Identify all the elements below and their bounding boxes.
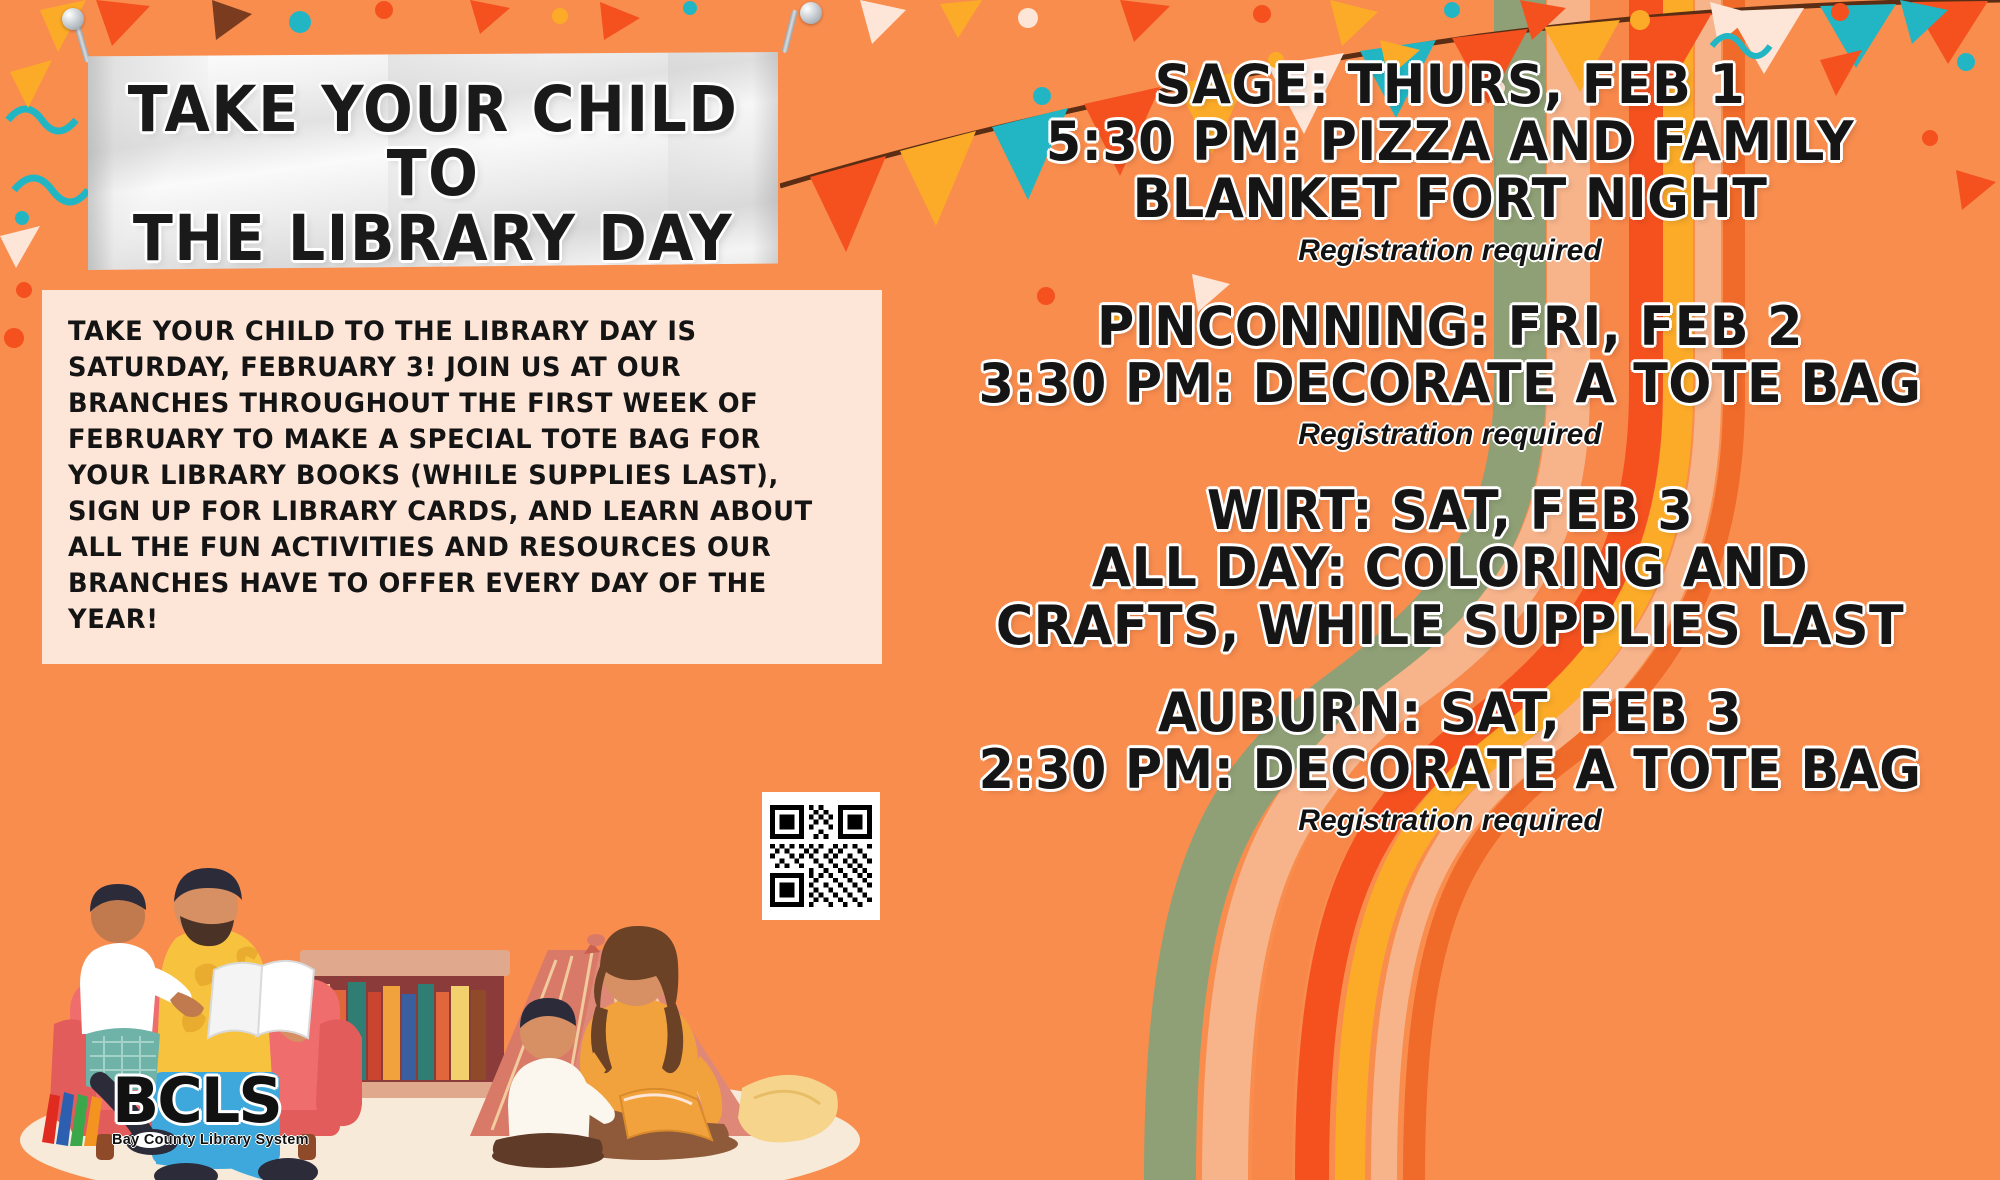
events-list: SAGE: THURS, FEB 1 5:30 PM: PIZZA AND FA…: [900, 56, 2000, 868]
event-line-2: 5:30 PM: PIZZA AND FAMILY: [933, 113, 1967, 170]
description-text: TAKE YOUR CHILD TO THE LIBRARY DAY IS SA…: [68, 314, 832, 638]
event-line-3: BLANKET FORT NIGHT: [933, 170, 1967, 227]
logo-wordmark: BCLS: [112, 1072, 309, 1129]
event-line-2: ALL DAY: COLORING AND: [933, 539, 1967, 596]
poster-root: TAKE YOUR CHILD TO THE LIBRARY DAY TAKE …: [0, 0, 2000, 1180]
event-block-sage: SAGE: THURS, FEB 1 5:30 PM: PIZZA AND FA…: [900, 56, 2000, 268]
event-block-auburn: AUBURN: SAT, FEB 3 2:30 PM: DECORATE A T…: [900, 684, 2000, 838]
open-book-dad: [208, 961, 314, 1038]
event-block-wirt: WIRT: SAT, FEB 3 ALL DAY: COLORING AND C…: [900, 482, 2000, 654]
description-card: TAKE YOUR CHILD TO THE LIBRARY DAY IS SA…: [42, 290, 882, 664]
page-title: TAKE YOUR CHILD TO THE LIBRARY DAY: [112, 52, 754, 271]
event-note: Registration required: [900, 234, 2000, 268]
qr-code[interactable]: [762, 792, 880, 920]
event-block-pinconning: PINCONNING: FRI, FEB 2 3:30 PM: DECORATE…: [900, 298, 2000, 452]
event-line-1: AUBURN: SAT, FEB 3: [933, 684, 1967, 741]
books-icon: [40, 1086, 106, 1148]
event-line-2: 2:30 PM: DECORATE A TOTE BAG: [933, 741, 1967, 798]
event-line-2: 3:30 PM: DECORATE A TOTE BAG: [933, 355, 1967, 412]
event-line-1: SAGE: THURS, FEB 1: [933, 56, 1967, 113]
title-banner: TAKE YOUR CHILD TO THE LIBRARY DAY: [88, 52, 778, 270]
bcls-logo: BCLS Bay County Library System: [40, 1072, 309, 1148]
logo-subtitle: Bay County Library System: [112, 1132, 309, 1148]
event-note: Registration required: [900, 418, 2000, 452]
event-line-3: CRAFTS, WHILE SUPPLIES LAST: [933, 597, 1967, 654]
banner-title-line-1: TAKE YOUR CHILD TO: [128, 73, 739, 210]
event-note: Registration required: [900, 804, 2000, 838]
banner-title-line-2: THE LIBRARY DAY: [112, 207, 754, 271]
event-line-1: WIRT: SAT, FEB 3: [933, 482, 1967, 539]
event-line-1: PINCONNING: FRI, FEB 2: [933, 298, 1967, 355]
